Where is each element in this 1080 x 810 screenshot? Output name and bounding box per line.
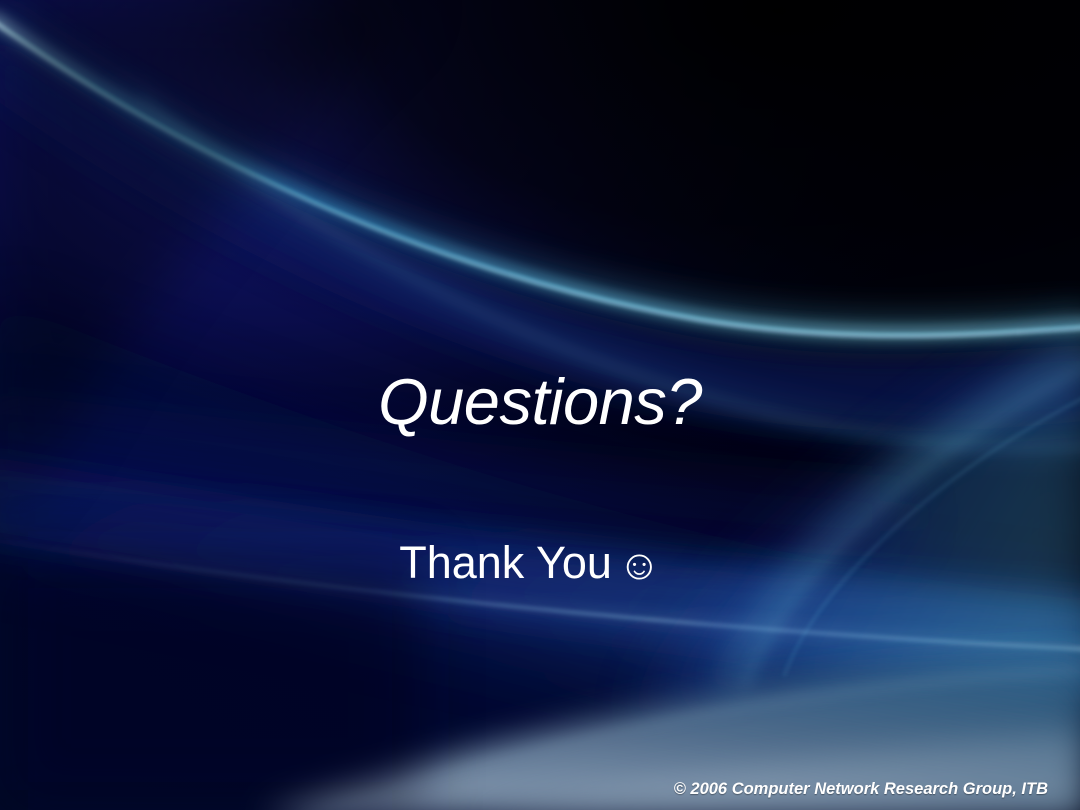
slide-subtitle: Thank You☺ — [0, 538, 1080, 588]
slide-subtitle-text: Thank You — [399, 537, 612, 588]
smiley-face-icon: ☺ — [618, 541, 661, 588]
slide-text-layer: Questions? Thank You☺ © 2006 Computer Ne… — [0, 0, 1080, 810]
slide-title: Questions? — [0, 368, 1080, 436]
presentation-slide: Questions? Thank You☺ © 2006 Computer Ne… — [0, 0, 1080, 810]
slide-footer-copyright: © 2006 Computer Network Research Group, … — [674, 780, 1048, 800]
